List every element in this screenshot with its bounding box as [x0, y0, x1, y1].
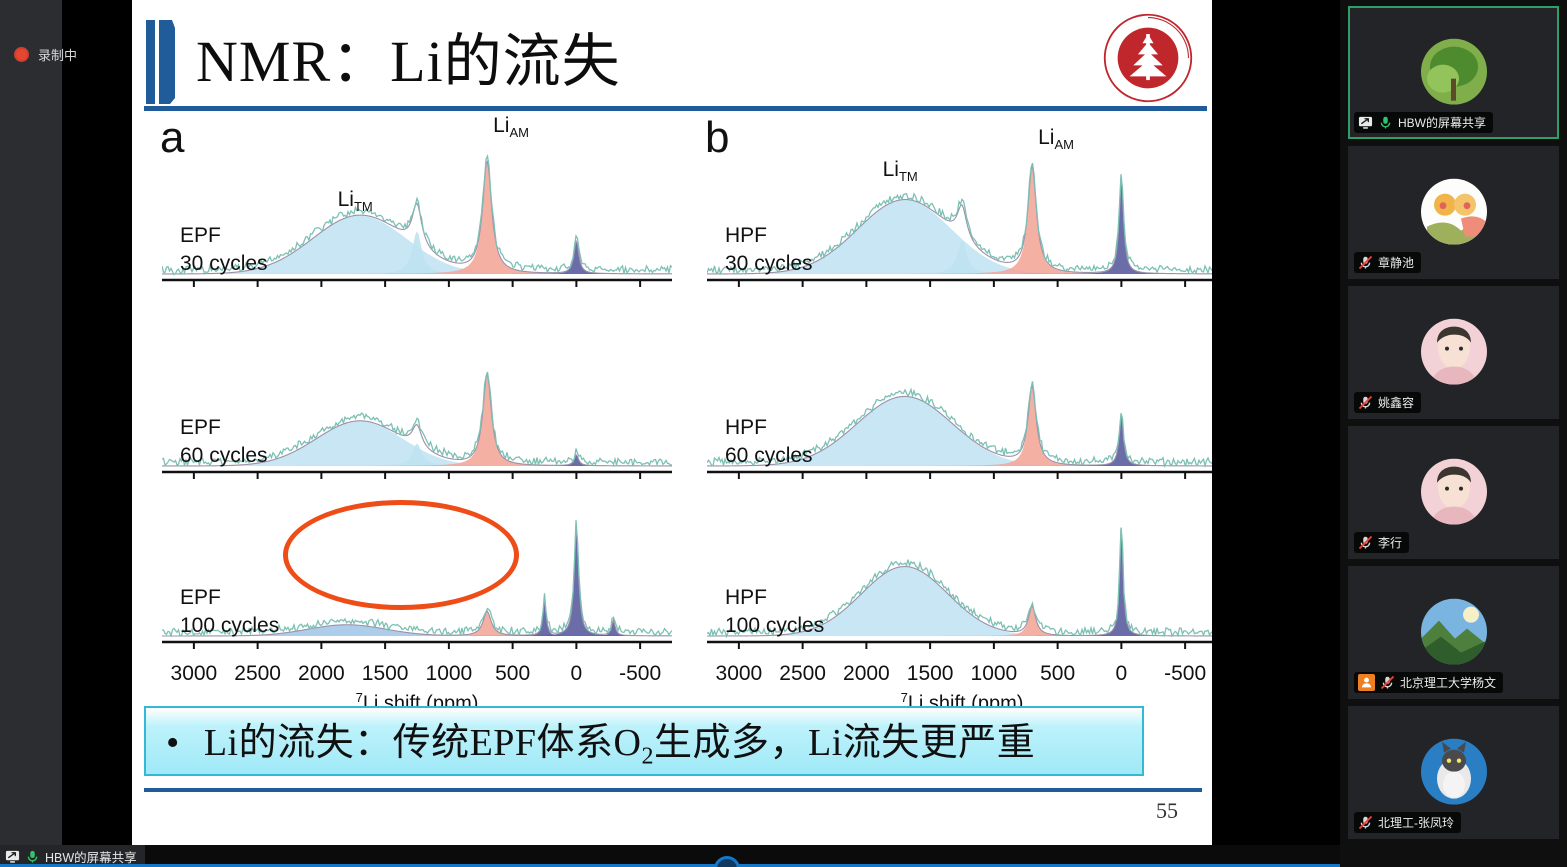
avatar: [1421, 178, 1487, 244]
mic-muted-icon: [1358, 815, 1373, 830]
spectrum-row-label: HPF 60 cycles: [725, 414, 813, 471]
title-bar-icon: [144, 18, 178, 106]
participant-nametag: 李行: [1354, 532, 1409, 553]
x-axis-tick-label: 500: [495, 662, 530, 686]
callout-text-before: Li的流失：传统EPF体系O: [204, 722, 642, 764]
slide-title-row: NMR：Li的流失: [140, 8, 1204, 108]
spectrum-row-label: HPF 100 cycles: [725, 584, 824, 641]
participant-nametag: 章静池: [1354, 252, 1421, 273]
summary-callout-text: • Li的流失：传统EPF体系O2生成多，Li流失更严重: [146, 711, 1035, 771]
screen: 录制中 NMR：Li的流失: [0, 0, 1567, 867]
participant-nametag: 姚鑫容: [1354, 392, 1421, 413]
participant-name: 北京理工大学杨文: [1400, 674, 1496, 691]
screen-share-icon: [5, 849, 20, 864]
peak-label-li-am: LiAM: [1038, 126, 1074, 152]
recording-indicator[interactable]: 录制中: [14, 45, 77, 64]
spectrum-row-label: EPF 30 cycles: [180, 222, 268, 279]
x-axis-tick-label: 1500: [362, 662, 409, 686]
x-axis-tick-label: 1500: [907, 662, 954, 686]
participant-nametag: 北理工-张凤玲: [1354, 812, 1461, 833]
x-axis-tick-label: -500: [619, 662, 661, 686]
participant-tile[interactable]: 北京理工大学杨文: [1348, 566, 1559, 699]
participant-name: 章静池: [1378, 254, 1414, 271]
spectrum-row: HPF 100 cycles: [707, 508, 1212, 678]
avatar: [1421, 458, 1487, 524]
mic-on-icon: [25, 849, 40, 864]
spectrum-row: HPF 30 cycles: [707, 146, 1212, 316]
x-axis-tick-label: 3000: [171, 662, 218, 686]
recording-label: 录制中: [38, 45, 77, 64]
university-logo-icon: [1102, 12, 1194, 104]
mic-muted-icon: [1358, 255, 1373, 270]
record-dot-icon: [14, 47, 29, 62]
panel-b: b HPF 30 cyclesHPF 60 cyclesHPF 100 cycl…: [697, 108, 1212, 698]
x-axis-tick-label: 1000: [971, 662, 1018, 686]
taskbar-share-label: HBW的屏幕共享: [45, 847, 137, 866]
x-axis-tick-label: 2500: [779, 662, 826, 686]
participant-rail[interactable]: HBW的屏幕共享 章静池 姚鑫容 李行 北京理工大学杨文 北理工-张凤玲: [1340, 0, 1567, 867]
peak-label-li-tm: LiTM: [883, 158, 918, 184]
x-axis-tick-label: 3000: [716, 662, 763, 686]
x-axis-tick-label: 1000: [426, 662, 473, 686]
slide-bottom-rule: [144, 788, 1202, 792]
spectrum-row: HPF 60 cycles: [707, 338, 1212, 508]
slide-page-number: 55: [1156, 798, 1178, 824]
avatar: [1421, 598, 1487, 664]
mic-muted-icon: [1380, 675, 1395, 690]
panel-a: a EPF 30 cyclesEPF 60 cyclesEPF 100 cycl…: [152, 108, 682, 698]
participant-nametag: 北京理工大学杨文: [1354, 672, 1503, 693]
peak-label-li-am: LiAM: [493, 114, 529, 140]
x-axis-tick-labels: 300025002000150010005000-500: [162, 662, 672, 688]
nmr-figure: a EPF 30 cyclesEPF 60 cyclesEPF 100 cycl…: [132, 108, 1212, 698]
x-axis-tick-label: 500: [1040, 662, 1075, 686]
x-axis-tick-label: -500: [1164, 662, 1206, 686]
mic-muted-icon: [1358, 535, 1373, 550]
participant-tile[interactable]: 北理工-张凤玲: [1348, 706, 1559, 839]
participant-name: 姚鑫容: [1378, 394, 1414, 411]
avatar: [1421, 318, 1487, 384]
peak-label-li-tm: LiTM: [338, 188, 373, 214]
spectrum-row: EPF 60 cycles: [162, 338, 672, 508]
highlight-ellipse-annotation: [283, 500, 519, 610]
mic-on-icon: [1378, 115, 1393, 130]
page-title: NMR：Li的流失: [196, 14, 621, 98]
x-axis-tick-label: 2500: [234, 662, 281, 686]
mic-muted-icon: [1358, 395, 1373, 410]
x-axis-tick-label: 2000: [843, 662, 890, 686]
host-badge-icon: [1358, 674, 1375, 691]
avatar: [1421, 38, 1487, 104]
participant-tile[interactable]: 姚鑫容: [1348, 286, 1559, 419]
summary-callout: • Li的流失：传统EPF体系O2生成多，Li流失更严重: [144, 706, 1144, 776]
right-black-letterbox: [1212, 0, 1340, 845]
callout-bullet: •: [166, 722, 180, 764]
screen-share-icon: [1358, 115, 1373, 130]
left-black-letterbox: [62, 0, 132, 845]
left-dark-strip: [0, 0, 62, 845]
participant-tile[interactable]: HBW的屏幕共享: [1348, 6, 1559, 139]
spectrum-row-label: EPF 100 cycles: [180, 584, 279, 641]
participant-name: 李行: [1378, 534, 1402, 551]
participant-tile[interactable]: 李行: [1348, 426, 1559, 559]
callout-text-after: 生成多，Li流失更严重: [654, 722, 1035, 764]
shared-slide: NMR：Li的流失 a EPF 30 cyclesEPF 60 cyclesEP…: [132, 0, 1212, 845]
spectrum-row: EPF 30 cycles: [162, 146, 672, 316]
x-axis-tick-label: 2000: [298, 662, 345, 686]
avatar: [1421, 738, 1487, 804]
participant-name: 北理工-张凤玲: [1378, 814, 1454, 831]
x-axis-tick-label: 0: [1116, 662, 1128, 686]
spectrum-row-label: HPF 30 cycles: [725, 222, 813, 279]
x-axis-tick-label: 0: [571, 662, 583, 686]
callout-subscript: 2: [642, 744, 655, 770]
participant-nametag: HBW的屏幕共享: [1354, 112, 1493, 133]
participant-tile[interactable]: 章静池: [1348, 146, 1559, 279]
x-axis-tick-labels: 300025002000150010005000-500: [707, 662, 1212, 688]
spectrum-row-label: EPF 60 cycles: [180, 414, 268, 471]
participant-name: HBW的屏幕共享: [1398, 114, 1486, 131]
